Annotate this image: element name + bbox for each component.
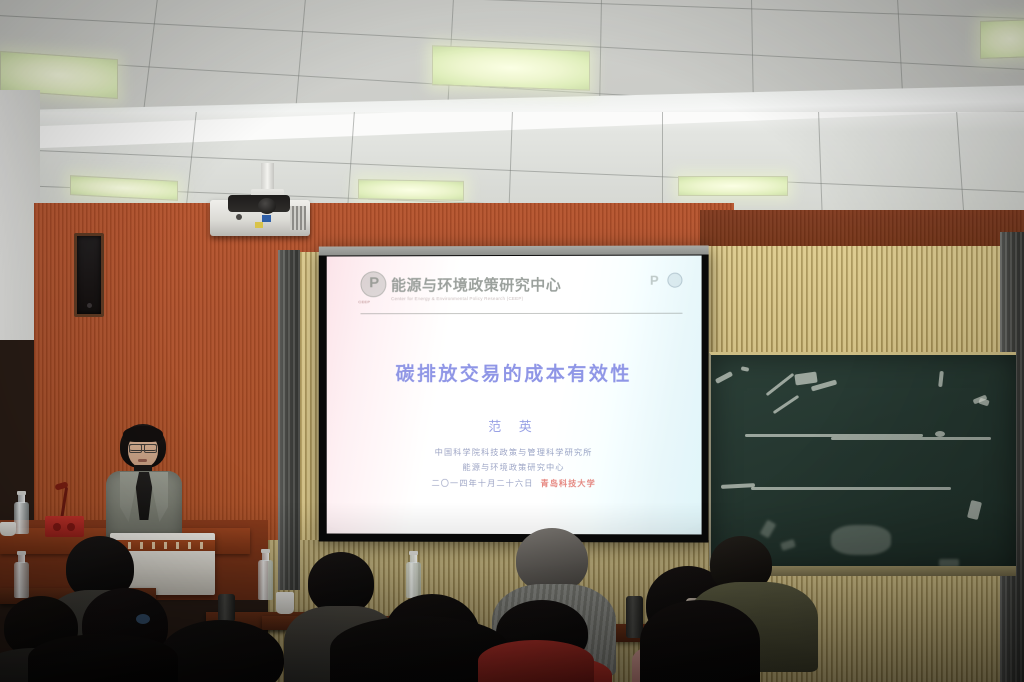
water-bottle-podium-table bbox=[14, 502, 29, 534]
water-bottle-desk-right bbox=[406, 562, 421, 598]
head bbox=[516, 528, 588, 592]
head bbox=[308, 552, 374, 614]
water-bottle-desk-left bbox=[14, 562, 29, 598]
slide-date-row: 二〇一四年十月二十六日青岛科技大学 bbox=[327, 476, 702, 492]
slide-title: 碳排放交易的成本有效性 bbox=[327, 359, 702, 386]
slide-header-divider bbox=[360, 313, 682, 314]
ceiling-light-upper-mid bbox=[432, 45, 590, 91]
thermos-desk-mid bbox=[218, 594, 235, 622]
projection-screen: CEEP 能源与环境政策研究中心 Center for Energy & Env… bbox=[319, 245, 709, 542]
presenter-mouth bbox=[138, 459, 147, 462]
projector-lens-icon bbox=[258, 198, 276, 214]
presentation-slide: CEEP 能源与环境政策研究中心 Center for Energy & Env… bbox=[327, 256, 702, 535]
slide-affiliation-block: 中国科学院科技政策与管理科学研究所 能源与环境政策研究中心 二〇一四年十月二十六… bbox=[327, 445, 702, 492]
curtain-left-of-screen bbox=[278, 250, 300, 590]
foreground-head-left bbox=[28, 634, 178, 682]
slide-date: 二〇一四年十月二十六日 bbox=[431, 479, 533, 488]
hair-clip-icon bbox=[136, 614, 150, 624]
presenter bbox=[98, 424, 190, 544]
slide-affiliation-line-2: 能源与环境政策研究中心 bbox=[327, 460, 702, 476]
water-bottle-desk-mid bbox=[258, 560, 273, 600]
slide-header: CEEP 能源与环境政策研究中心 Center for Energy & Env… bbox=[360, 274, 682, 302]
presenter-fringe bbox=[123, 426, 163, 442]
ceiling-light-upper-right bbox=[980, 19, 1024, 59]
ceiling-light-lower-right bbox=[678, 176, 788, 196]
foreground-head-far-right bbox=[640, 600, 760, 682]
wall-speaker-icon bbox=[74, 233, 104, 317]
glasses-icon bbox=[129, 444, 157, 451]
slide-corner-logos: P bbox=[650, 272, 683, 287]
corner-logo-circle-icon bbox=[668, 272, 683, 287]
slide-org-header-en: Center for Energy & Environmental Policy… bbox=[391, 296, 683, 302]
ceep-logo-icon: CEEP bbox=[360, 271, 386, 297]
nameplate bbox=[45, 516, 84, 537]
ceep-logo-tag: CEEP bbox=[358, 299, 370, 304]
slide-affiliation-line-1: 中国科学院科技政策与管理科学研究所 bbox=[327, 445, 702, 461]
paper-cup-desk-mid bbox=[276, 592, 294, 614]
slide-author: 范 英 bbox=[327, 416, 702, 435]
screen-top-roller bbox=[319, 245, 709, 255]
slide-org-header-cn: 能源与环境政策研究中心 bbox=[391, 274, 683, 296]
slide-venue: 青岛科技大学 bbox=[541, 479, 596, 488]
lecture-hall-photo: CEEP 能源与环境政策研究中心 Center for Energy & Env… bbox=[0, 0, 1024, 682]
projector-icon bbox=[210, 200, 310, 236]
corner-logo-p-icon: P bbox=[650, 272, 659, 287]
wall-wood-upper-band-right bbox=[700, 210, 1024, 250]
ceiling-light-lower-mid bbox=[358, 179, 464, 201]
wainscot-right-upper bbox=[706, 246, 1018, 356]
paper-cup-podium-table bbox=[0, 522, 16, 536]
foreground-head-right bbox=[478, 640, 594, 682]
